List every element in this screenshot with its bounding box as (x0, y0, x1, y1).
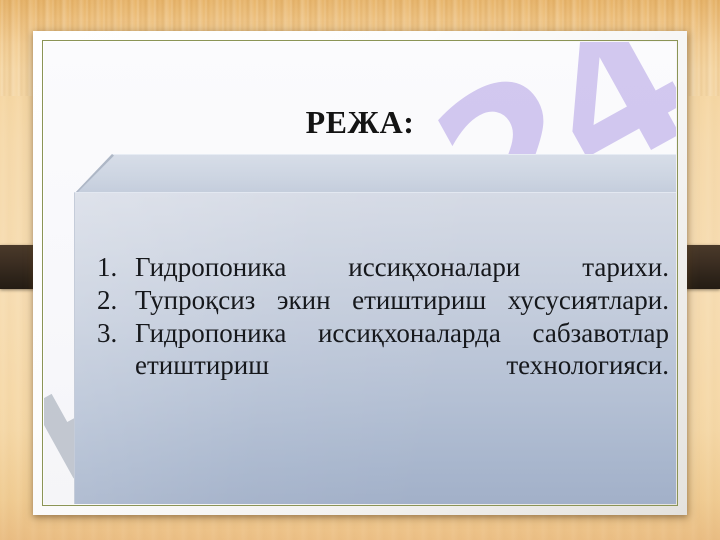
list-item: 1. Гидропоника иссиқхоналари тарихи. (83, 251, 669, 283)
presentation-slide: 24 Hujjat РЕЖА: 1. Гидропоника иссиқхона… (0, 0, 720, 540)
list-item-number: 3. (83, 317, 135, 349)
content-box-front-face: 1. Гидропоника иссиқхоналари тарихи. 2. … (74, 192, 676, 504)
content-box-top-face (74, 154, 676, 195)
content-box-3d: 1. Гидропоника иссиқхоналари тарихи. 2. … (74, 154, 676, 504)
slide-canvas: 24 Hujjat РЕЖА: 1. Гидропоника иссиқхона… (44, 42, 676, 504)
list-item-number: 1. (83, 251, 135, 283)
slide-title: РЕЖА: (44, 104, 676, 141)
list-item: 3. Гидропоника иссиқхоналарда сабзавотла… (83, 317, 669, 381)
list-item-text: Гидропоника иссиқхоналарда сабзавотлар е… (135, 317, 669, 381)
list-item-text: Тупроқсиз экин етиштириш хусусиятлари. (135, 284, 669, 316)
slide-frame: 24 Hujjat РЕЖА: 1. Гидропоника иссиқхона… (33, 31, 687, 515)
list-item-text: Гидропоника иссиқхоналари тарихи. (135, 251, 669, 283)
list-item-number: 2. (83, 284, 135, 316)
agenda-list: 1. Гидропоника иссиқхоналари тарихи. 2. … (83, 251, 669, 383)
list-item: 2. Тупроқсиз экин етиштириш хусусиятлари… (83, 284, 669, 316)
